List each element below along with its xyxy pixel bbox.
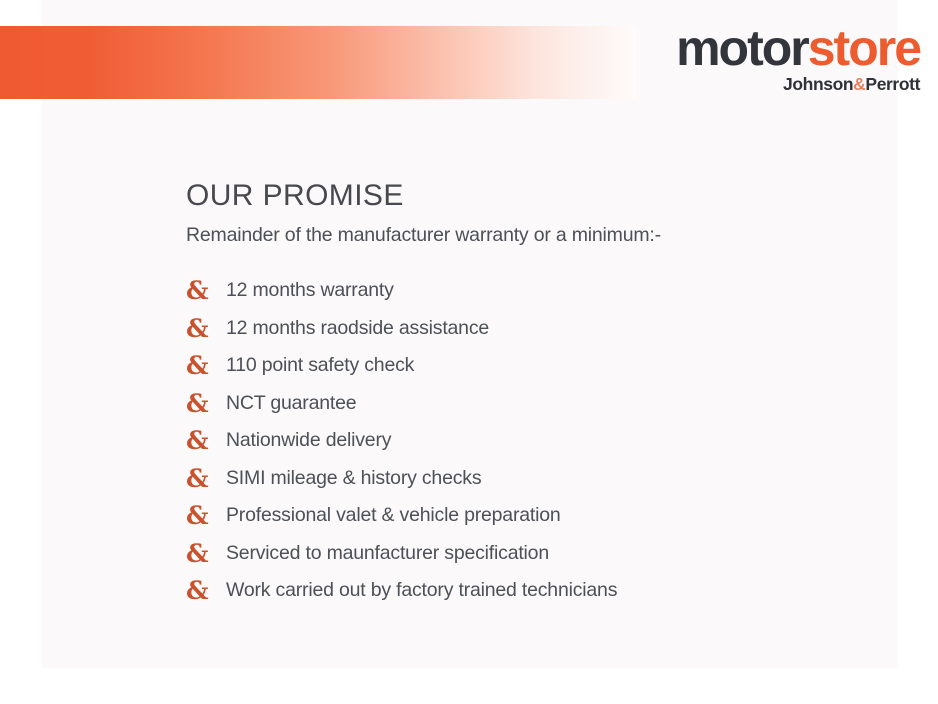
logo-subbrand: Johnson&Perrott [676, 76, 920, 94]
ampersand-bullet-icon: & [186, 497, 210, 535]
logo-subbrand-ampersand-icon: & [853, 74, 865, 94]
logo-subbrand-perrott: Perrott [865, 74, 920, 94]
list-item: & Work carried out by factory trained te… [186, 572, 886, 610]
promise-page: motorstore Johnson&Perrott OUR PROMISE R… [0, 0, 938, 704]
list-item-label: Professional valet & vehicle preparation [226, 504, 561, 526]
list-item: & NCT guarantee [186, 385, 886, 423]
promise-content: OUR PROMISE Remainder of the manufacture… [186, 178, 886, 610]
logo-store-text: store [808, 20, 920, 76]
list-item: & Professional valet & vehicle preparati… [186, 497, 886, 535]
list-item-label: 110 point safety check [226, 354, 414, 376]
list-item-label: 12 months warranty [226, 279, 394, 301]
list-item-label: Work carried out by factory trained tech… [226, 579, 617, 601]
list-item-label: NCT guarantee [226, 392, 356, 414]
page-header: motorstore Johnson&Perrott [0, 0, 938, 110]
list-item: & 12 months warranty [186, 272, 886, 310]
list-item: & Nationwide delivery [186, 422, 886, 460]
list-item: & Serviced to maunfacturer specification [186, 535, 886, 573]
page-subtitle: Remainder of the manufacturer warranty o… [186, 222, 886, 248]
page-title: OUR PROMISE [186, 178, 886, 214]
header-gradient-bar [0, 26, 636, 99]
ampersand-bullet-icon: & [186, 272, 210, 310]
list-item-label: Nationwide delivery [226, 429, 391, 451]
promise-list: & 12 months warranty & 12 months raodsid… [186, 272, 886, 610]
ampersand-bullet-icon: & [186, 460, 210, 498]
ampersand-bullet-icon: & [186, 385, 210, 423]
ampersand-bullet-icon: & [186, 572, 210, 610]
list-item: & 12 months raodside assistance [186, 310, 886, 348]
ampersand-bullet-icon: & [186, 535, 210, 573]
logo-motor-text: motor [676, 20, 808, 76]
list-item: & SIMI mileage & history checks [186, 460, 886, 498]
motorstore-logo: motorstore Johnson&Perrott [676, 22, 920, 94]
logo-subbrand-johnson: Johnson [783, 74, 853, 94]
list-item-label: 12 months raodside assistance [226, 317, 489, 339]
list-item: & 110 point safety check [186, 347, 886, 385]
ampersand-bullet-icon: & [186, 310, 210, 348]
ampersand-bullet-icon: & [186, 422, 210, 460]
ampersand-bullet-icon: & [186, 347, 210, 385]
logo-wordmark: motorstore [676, 22, 920, 74]
list-item-label: Serviced to maunfacturer specification [226, 542, 549, 564]
list-item-label: SIMI mileage & history checks [226, 467, 481, 489]
